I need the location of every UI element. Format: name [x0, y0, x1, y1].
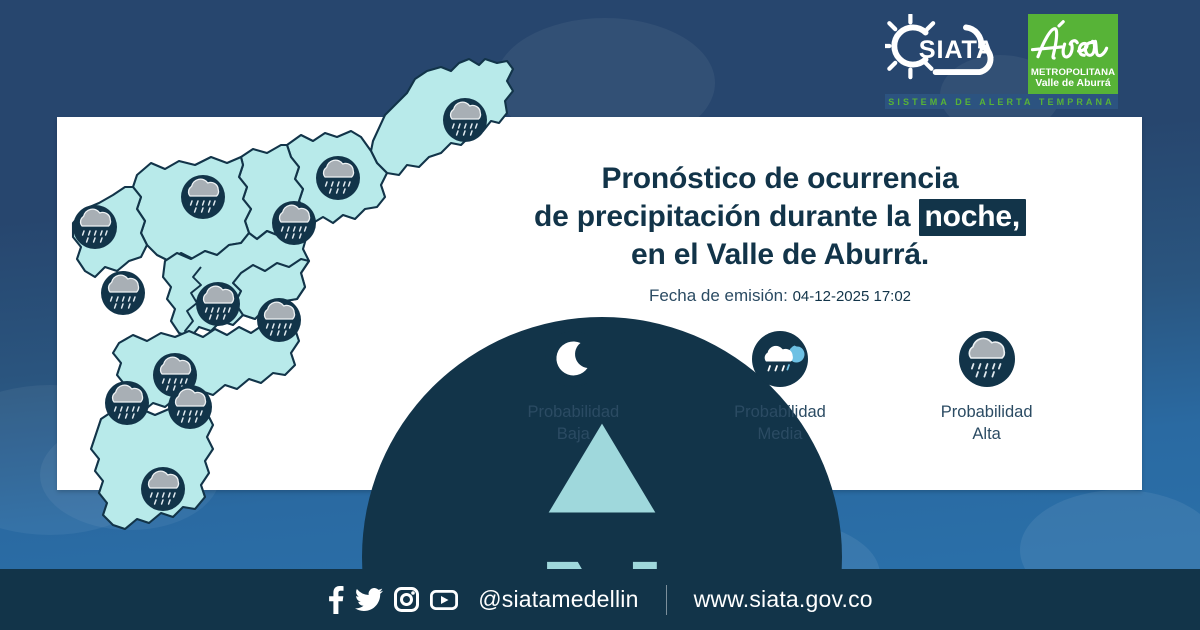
twitter-icon[interactable]	[355, 588, 383, 612]
title-line-3: en el Valle de Aburrá.	[470, 236, 1090, 274]
website-url[interactable]: www.siata.gov.co	[694, 586, 873, 613]
tagline-text: SISTEMA DE ALERTA TEMPRANA	[888, 97, 1114, 107]
marker-caldas	[141, 467, 185, 511]
facebook-icon[interactable]	[327, 586, 344, 614]
instagram-icon[interactable]	[394, 587, 419, 612]
legend-label-baja: Probabilidad Baja	[527, 401, 619, 445]
tagline-bar: SISTEMA DE ALERTA TEMPRANA	[885, 94, 1118, 109]
marker-la-estrella	[168, 385, 212, 429]
title-line-2-pre: de precipitación durante la	[534, 200, 910, 233]
title-line-2: de precipitación durante la noche,	[470, 198, 1090, 236]
legend-label-media: Probabilidad Media	[734, 401, 826, 445]
marker-bello	[181, 175, 225, 219]
marker-medellin	[196, 282, 240, 326]
area-logo-line1: METROPOLITANA	[1031, 67, 1115, 78]
area-logo-line2: Valle de Aburrá	[1035, 78, 1110, 90]
moon-icon	[544, 330, 602, 388]
marker-barbosa	[443, 98, 487, 142]
emission-date: Fecha de emisión: 04-12-2025 17:02	[470, 286, 1090, 306]
social-icon-group	[327, 586, 458, 614]
siata-logo: SIATA	[885, 14, 1020, 94]
youtube-icon[interactable]	[430, 590, 458, 610]
valle-de-aburra-map: N	[55, 45, 535, 565]
area-script-mark	[1031, 17, 1115, 67]
marker-sabaneta	[105, 381, 149, 425]
area-metropolitana-logo: METROPOLITANA Valle de Aburrá	[1028, 14, 1118, 95]
marker-girardota	[316, 156, 360, 200]
poster-root: SIATA METROPOLITANA Valle de Aburrá SIST…	[0, 0, 1200, 630]
svg-text:SIATA: SIATA	[919, 36, 995, 64]
title-block: Pronóstico de ocurrencia de precipitació…	[470, 160, 1090, 306]
cloud-moon-rain-icon	[751, 330, 809, 388]
marker-san-jeronimo	[101, 271, 145, 315]
title-highlight-noche: noche,	[919, 199, 1026, 236]
legend-item-alta: Probabilidad Alta	[902, 330, 1072, 445]
footer-bar: @siatamedellin www.siata.gov.co	[0, 569, 1200, 630]
legend-label-alta: Probabilidad Alta	[941, 401, 1033, 445]
title-line-1: Pronóstico de ocurrencia	[470, 160, 1090, 198]
legend-item-baja: Probabilidad Baja	[488, 330, 658, 445]
municipio-barbosa	[371, 59, 513, 175]
emission-date-label: Fecha de emisión:	[649, 286, 788, 305]
marker-san-pedro	[73, 205, 117, 249]
marker-copacabana	[272, 201, 316, 245]
logo-group: SIATA METROPOLITANA Valle de Aburrá	[885, 14, 1118, 95]
legend-item-media: Probabilidad Media	[695, 330, 865, 445]
emission-date-value: 04-12-2025 17:02	[793, 288, 911, 305]
footer-divider	[666, 585, 667, 615]
marker-envigado	[257, 298, 301, 342]
probability-legend: Probabilidad Baja Probabilidad Media	[470, 330, 1090, 445]
social-handle[interactable]: @siatamedellin	[478, 586, 638, 613]
cloud-heavy-rain-icon	[958, 330, 1016, 388]
